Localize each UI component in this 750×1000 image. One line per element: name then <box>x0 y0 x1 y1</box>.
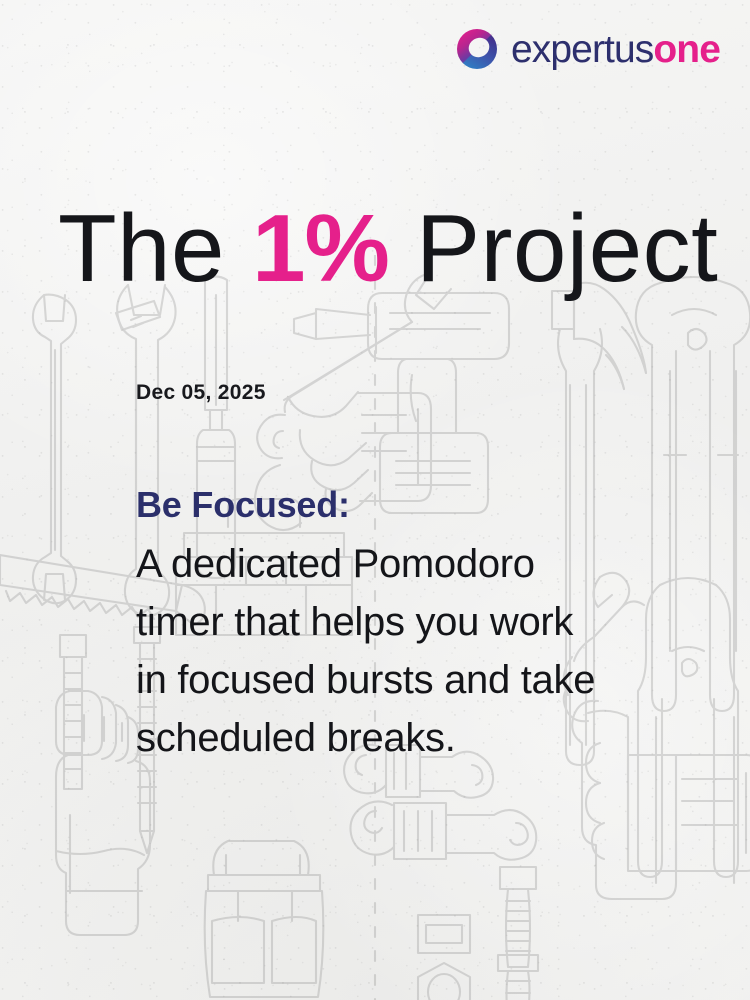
brand-wordmark: expertusone <box>511 30 720 69</box>
bolt-icon <box>498 867 538 1000</box>
title-part-one: The <box>58 195 252 302</box>
body-heading: Be Focused: <box>136 486 676 524</box>
cordless-drill-icon <box>294 293 509 513</box>
body-paragraph: A dedicated Pomodoro timer that helps yo… <box>136 535 606 767</box>
hex-nut-icon <box>418 963 470 1000</box>
brand-header: expertusone <box>456 28 720 70</box>
tool-belt-icon <box>205 841 324 997</box>
page-title: The 1% Project <box>58 201 718 297</box>
slip-joint-pliers-icon <box>350 801 536 859</box>
poster-canvas: expertusone The 1% Project Dec 05, 2025 … <box>0 0 750 1000</box>
title-part-two: Project <box>389 195 718 302</box>
file-tool-icon <box>60 635 86 789</box>
brand-wordmark-primary: expertus <box>511 28 653 71</box>
body-block: Be Focused: A dedicated Pomodoro timer t… <box>136 486 676 767</box>
open-end-wrench-icon <box>33 295 76 604</box>
washer-icon <box>418 915 470 953</box>
poster-date: Dec 05, 2025 <box>136 381 266 405</box>
expertus-ring-logo-icon <box>456 28 498 70</box>
brand-wordmark-accent: one <box>653 28 720 71</box>
title-accent-percent: 1% <box>252 195 389 302</box>
